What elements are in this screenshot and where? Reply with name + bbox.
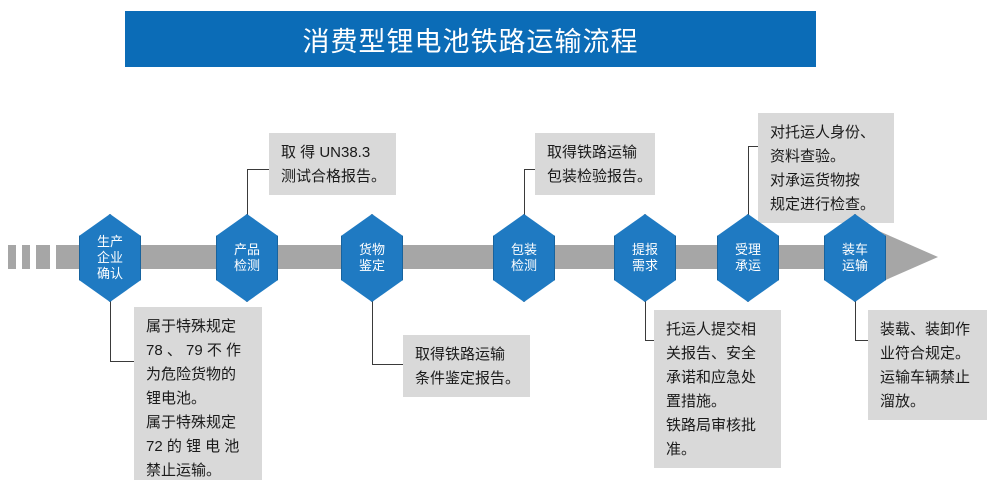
spine-dash-2 (22, 245, 30, 269)
callout-line: 取得铁路运输 (415, 343, 520, 367)
connector-node2-horizontal (247, 169, 269, 170)
connector-node6-horizontal (748, 146, 758, 147)
spine-dash-1 (8, 245, 16, 269)
node-label-line: 需求 (632, 258, 658, 274)
title-banner: 消费型锂电池铁路运输流程 (125, 11, 816, 67)
callout-line: 承诺和应急处 (666, 366, 771, 390)
callout-line: 对承运货物按 (770, 169, 884, 193)
node-label-line: 企业 (97, 250, 123, 266)
node-label-line: 装车 (842, 242, 868, 258)
node-label-line: 生产 (97, 234, 123, 250)
callout-line: 运输车辆禁止 (880, 366, 977, 390)
callout-line: 锂电池。 (146, 387, 252, 411)
connector-node3-horizontal (372, 364, 403, 365)
callout-line: 溜放。 (880, 390, 977, 414)
callout-line: 托运人提交相 (666, 318, 771, 342)
callout-line: 准。 (666, 438, 771, 462)
callout-line: 资料查验。 (770, 145, 884, 169)
callout-line: 测试合格报告。 (281, 165, 386, 189)
callout-package-test: 取得铁路运输 包装检验报告。 (535, 133, 655, 195)
callout-line: 置措施。 (666, 390, 771, 414)
callout-line: 关报告、安全 (666, 342, 771, 366)
node-label-line: 货物 (359, 242, 385, 258)
callout-acceptance: 对托运人身份、 资料查验。 对承运货物按 规定进行检查。 (758, 113, 894, 223)
node-label-line: 鉴定 (359, 258, 385, 274)
callout-manufacturer: 属于特殊规定 78 、 79 不 作 为危险货物的 锂电池。 属于特殊规定 72… (134, 307, 262, 480)
flow-node-goods-appraisal[interactable]: 货物 鉴定 (341, 214, 403, 302)
flow-node-production-confirm[interactable]: 生产 企业 确认 (79, 214, 141, 302)
callout-line: 取得铁路运输 (547, 141, 645, 165)
callout-goods-appraisal: 取得铁路运输 条件鉴定报告。 (403, 335, 530, 397)
node-label-line: 产品 (234, 242, 260, 258)
callout-line: 条件鉴定报告。 (415, 367, 520, 391)
callout-line: 为危险货物的 (146, 363, 252, 387)
flow-node-package-test[interactable]: 包装 检测 (493, 214, 555, 302)
connector-node5-horizontal (645, 340, 654, 341)
callout-line: 业符合规定。 (880, 342, 977, 366)
page-title: 消费型锂电池铁路运输流程 (303, 20, 639, 59)
callout-line: 规定进行检查。 (770, 193, 884, 217)
spine-dash-3 (36, 245, 50, 269)
callout-demand: 托运人提交相 关报告、安全 承诺和应急处 置措施。 铁路局审核批 准。 (654, 310, 781, 468)
connector-node1-horizontal (110, 361, 134, 362)
flow-node-product-test[interactable]: 产品 检测 (216, 214, 278, 302)
callout-line: 属于特殊规定 (146, 315, 252, 339)
flow-node-acceptance[interactable]: 受理 承运 (717, 214, 779, 302)
connector-node4-horizontal (524, 169, 535, 170)
connector-node7-horizontal (855, 340, 868, 341)
callout-line: 取 得 UN38.3 (281, 141, 386, 165)
node-label-line: 受理 (735, 242, 761, 258)
flowchart-canvas: 消费型锂电池铁路运输流程 生产 企业 确认 产品 检测 货物 鉴定 包装 (0, 0, 991, 480)
node-label-line: 检测 (511, 258, 537, 274)
callout-line: 铁路局审核批 (666, 414, 771, 438)
callout-line: 78 、 79 不 作 (146, 339, 252, 363)
callout-product-test: 取 得 UN38.3 测试合格报告。 (269, 133, 396, 195)
flow-node-submit-demand[interactable]: 提报 需求 (614, 214, 676, 302)
node-label-line: 检测 (234, 258, 260, 274)
callout-line: 包装检验报告。 (547, 165, 645, 189)
node-label-line: 运输 (842, 258, 868, 274)
callout-line: 属于特殊规定 (146, 411, 252, 435)
node-label-line: 承运 (735, 258, 761, 274)
callout-loading: 装载、装卸作 业符合规定。 运输车辆禁止 溜放。 (868, 310, 987, 420)
node-label-line: 包装 (511, 242, 537, 258)
callout-line: 对托运人身份、 (770, 121, 884, 145)
node-label-line: 提报 (632, 242, 658, 258)
callout-line: 装载、装卸作 (880, 318, 977, 342)
node-label-line: 确认 (97, 266, 123, 282)
callout-line: 禁止运输。 (146, 459, 252, 483)
callout-line: 72 的 锂 电 池 (146, 435, 252, 459)
